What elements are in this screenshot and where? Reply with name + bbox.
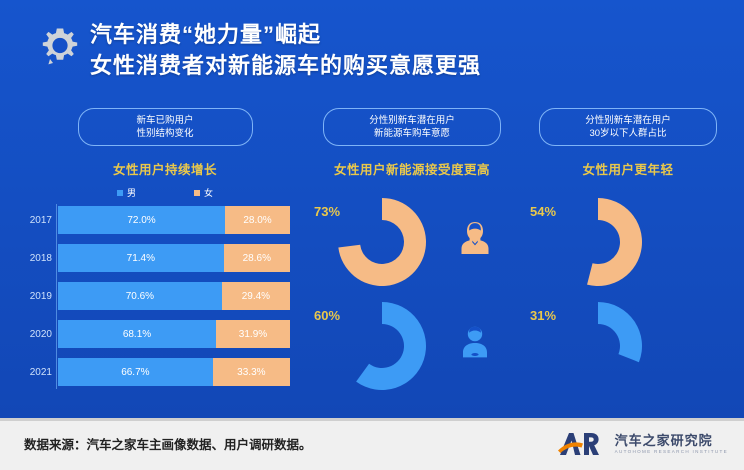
autohome-research-logo: 汽车之家研究院 AUTOHOME RESEARCH INSTITUTE [556, 429, 728, 459]
bar-track: 66.7%33.3% [58, 358, 290, 386]
panel-nev-purchase-intent: 分性别新车潜在用户 新能源车购车意愿 女性用户新能源接受度更高 [312, 108, 512, 178]
bar-track: 68.1%31.9% [58, 320, 290, 348]
logo-chinese-name: 汽车之家研究院 [615, 433, 728, 448]
bar-segment-female: 29.4% [222, 282, 290, 310]
bar-segment-male: 68.1% [58, 320, 216, 348]
bar-track: 71.4%28.6% [58, 244, 290, 272]
panel-gender-structure: 新车已购用户 性别结构变化 女性用户持续增长 [20, 108, 310, 178]
footer-divider [0, 418, 744, 421]
donut-column-nev: 73% 60% [312, 196, 512, 396]
pill-line-1: 分性别新车潜在用户 [548, 114, 708, 127]
donut-slot-female: 73% [312, 196, 512, 296]
bar-segment-female: 28.0% [225, 206, 290, 234]
bar-segment-male: 71.4% [58, 244, 224, 272]
bar-segment-female: 28.6% [224, 244, 290, 272]
panel-pill: 分性别新车潜在用户 新能源车购车意愿 [323, 108, 501, 146]
pill-line-2: 性别结构变化 [87, 127, 244, 140]
title-line-1: 汽车消费“她力量”崛起 [90, 20, 481, 50]
bar-track: 70.6%29.4% [58, 282, 290, 310]
legend-label: 女 [204, 186, 213, 199]
donut-column-under30: 54% 31% [528, 196, 728, 396]
panel-subtitle: 女性用户持续增长 [20, 159, 310, 178]
panel-subtitle: 女性用户更年轻 [528, 159, 728, 178]
bar-row: 202166.7%33.3% [20, 358, 310, 386]
bar-segment-male: 66.7% [58, 358, 213, 386]
male-person-icon [460, 322, 490, 362]
bar-row: 201970.6%29.4% [20, 282, 310, 310]
bar-row: 201772.0%28.0% [20, 206, 310, 234]
bar-chart: 201772.0%28.0%201871.4%28.6%201970.6%29.… [20, 200, 310, 395]
legend-label: 男 [127, 186, 136, 199]
bar-year-label: 2019 [20, 282, 52, 310]
pill-line-2: 新能源车购车意愿 [332, 127, 492, 140]
bar-row: 201871.4%28.6% [20, 244, 310, 272]
pill-line-1: 新车已购用户 [87, 114, 244, 127]
bar-year-label: 2021 [20, 358, 52, 386]
female-person-icon [460, 218, 490, 258]
donut-value-label: 54% [530, 204, 556, 219]
donut-value-label: 73% [314, 204, 340, 219]
header: 汽车消费“她力量”崛起 女性消费者对新能源车的购买意愿更强 [0, 14, 744, 94]
donut-slot-male: 60% [312, 300, 512, 400]
infographic-canvas: 汽车消费“她力量”崛起 女性消费者对新能源车的购买意愿更强 新车已购用户 性别结… [0, 0, 744, 418]
bar-segment-female: 33.3% [213, 358, 290, 386]
footer: 数据来源：汽车之家车主画像数据、用户调研数据。 汽车之家研究院 AUTOHOME… [0, 418, 744, 470]
bar-year-label: 2017 [20, 206, 52, 234]
legend-swatch-icon [194, 190, 200, 196]
donut-slot-female: 54% [528, 196, 728, 296]
data-source-text: 数据来源：汽车之家车主画像数据、用户调研数据。 [24, 434, 312, 453]
pill-line-1: 分性别新车潜在用户 [332, 114, 492, 127]
pill-line-2: 30岁以下人群占比 [548, 127, 708, 140]
title-line-2: 女性消费者对新能源车的购买意愿更强 [90, 50, 481, 82]
donut-chart-male-60 [336, 300, 428, 392]
legend-female: 女 [194, 186, 213, 199]
gear-icon [38, 26, 82, 70]
bar-year-label: 2018 [20, 244, 52, 272]
donut-value-label: 60% [314, 308, 340, 323]
bar-segment-male: 72.0% [58, 206, 225, 234]
donut-value-label: 31% [530, 308, 556, 323]
donut-chart-female-73 [336, 196, 428, 288]
bar-segment-male: 70.6% [58, 282, 222, 310]
legend-swatch-icon [117, 190, 123, 196]
panel-pill: 新车已购用户 性别结构变化 [78, 108, 253, 146]
bar-track: 72.0%28.0% [58, 206, 290, 234]
page-title: 汽车消费“她力量”崛起 女性消费者对新能源车的购买意愿更强 [90, 20, 481, 82]
bar-segment-female: 31.9% [216, 320, 290, 348]
logo-text-block: 汽车之家研究院 AUTOHOME RESEARCH INSTITUTE [615, 433, 728, 456]
ar-logo-icon [556, 430, 608, 458]
donut-chart-female-54 [552, 196, 644, 288]
logo-english-name: AUTOHOME RESEARCH INSTITUTE [615, 448, 728, 456]
panel-pill: 分性别新车潜在用户 30岁以下人群占比 [539, 108, 717, 146]
donut-slot-male: 31% [528, 300, 728, 400]
bar-row: 202068.1%31.9% [20, 320, 310, 348]
donut-chart-male-31 [552, 300, 644, 392]
panel-under-30-share: 分性别新车潜在用户 30岁以下人群占比 女性用户更年轻 [528, 108, 728, 178]
bar-chart-legend: 男女 [20, 186, 310, 199]
bar-year-label: 2020 [20, 320, 52, 348]
legend-male: 男 [117, 186, 136, 199]
panel-subtitle: 女性用户新能源接受度更高 [312, 159, 512, 178]
